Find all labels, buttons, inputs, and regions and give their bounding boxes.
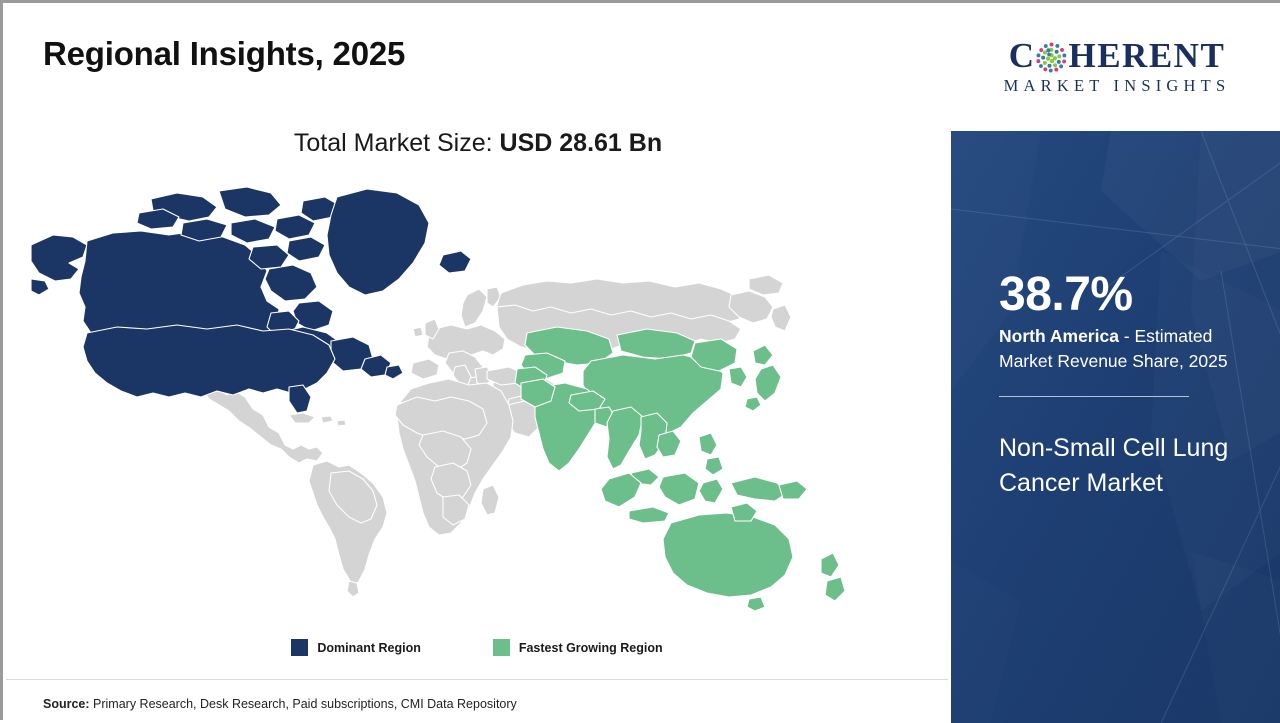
sidebar: C	[951, 3, 1280, 723]
market-name: Non-Small Cell Lung Cancer Market	[999, 431, 1257, 502]
map-region-asia-pacific[interactable]	[515, 327, 845, 611]
legend-swatch-fastest-growing	[493, 639, 510, 656]
stat-region: North America	[999, 326, 1119, 346]
legend-item-dominant: Dominant Region	[291, 639, 420, 656]
world-map	[31, 183, 901, 623]
stat-panel-content: 38.7% North America - Estimated Market R…	[999, 271, 1257, 502]
stat-panel: 38.7% North America - Estimated Market R…	[951, 131, 1280, 723]
source-text: Primary Research, Desk Research, Paid su…	[90, 697, 517, 711]
legend-label-fastest-growing: Fastest Growing Region	[519, 641, 663, 655]
stat-description: North America - Estimated Market Revenue…	[999, 324, 1257, 374]
source-note: Source: Primary Research, Desk Research,…	[43, 697, 517, 711]
map-region-north-america[interactable]	[31, 187, 471, 413]
map-legend: Dominant Region Fastest Growing Region	[3, 639, 951, 656]
main-content: Regional Insights, 2025 Total Market Siz…	[3, 3, 951, 723]
total-market-size-value: USD 28.61 Bn	[500, 129, 663, 157]
source-label: Source:	[43, 697, 90, 711]
legend-label-dominant: Dominant Region	[317, 641, 420, 655]
world-map-svg	[31, 183, 901, 623]
globe-icon	[1036, 42, 1067, 73]
page-title: Regional Insights, 2025	[43, 35, 405, 73]
logo-letter-c: C	[1009, 38, 1036, 73]
logo-wordmark: C	[1009, 38, 1226, 73]
source-divider	[6, 679, 948, 680]
brand-logo[interactable]: C	[951, 3, 1280, 131]
slide-frame: Regional Insights, 2025 Total Market Siz…	[0, 0, 1280, 720]
logo-letters-herent: HERENT	[1068, 38, 1225, 73]
logo-subtitle: MARKET INSIGHTS	[1004, 76, 1231, 96]
total-market-size: Total Market Size: USD 28.61 Bn	[43, 129, 913, 158]
total-market-size-label: Total Market Size:	[294, 129, 500, 157]
stat-value: 38.7%	[999, 271, 1257, 320]
legend-swatch-dominant	[291, 639, 308, 656]
legend-item-fastest-growing: Fastest Growing Region	[493, 639, 663, 656]
panel-divider	[999, 396, 1189, 397]
